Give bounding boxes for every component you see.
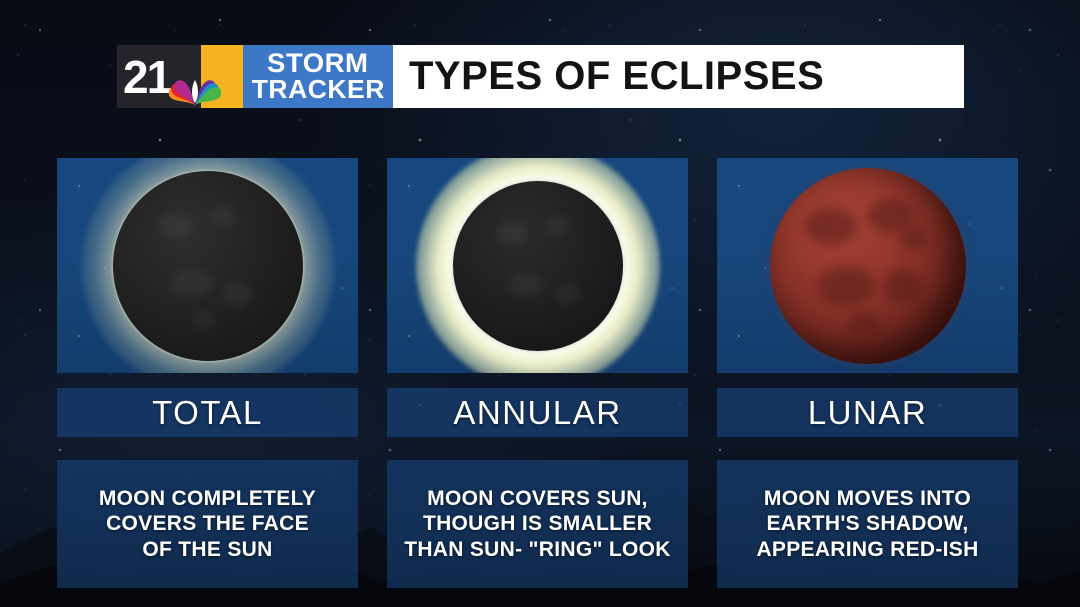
- moon-disc: [113, 171, 303, 361]
- eclipse-description: MOON COVERS SUN, THOUGH IS SMALLER THAN …: [398, 486, 677, 563]
- storm-tracker-banner: 21 STORM TRACKER: [117, 45, 964, 108]
- eclipse-label: ANNULAR: [453, 394, 621, 432]
- lunar-eclipse-blood-moon-icon: [717, 158, 1018, 373]
- description-box-annular: MOON COVERS SUN, THOUGH IS SMALLER THAN …: [387, 460, 688, 588]
- storm-tracker-block: STORM TRACKER: [243, 45, 393, 108]
- graphic-stage: 21 STORM TRACKER: [0, 0, 1080, 607]
- eclipse-column-lunar: LUNAR MOON MOVES INTO EARTH'S SHADOW, AP…: [717, 158, 1018, 588]
- total-solar-eclipse-icon: [57, 158, 358, 373]
- label-bar-annular: ANNULAR: [387, 388, 688, 437]
- eclipse-column-total: TOTAL MOON COMPLETELY COVERS THE FACE OF…: [57, 158, 358, 588]
- nbc-peacock-icon: [169, 72, 221, 106]
- moon-mare-texture: [770, 168, 966, 364]
- eclipse-column-annular: ANNULAR MOON COVERS SUN, THOUGH IS SMALL…: [387, 158, 688, 588]
- moon-texture: [453, 181, 623, 351]
- eclipse-description: MOON MOVES INTO EARTH'S SHADOW, APPEARIN…: [750, 486, 984, 563]
- title-bar: TYPES OF ECLIPSES: [393, 45, 964, 108]
- moon-texture: [113, 171, 303, 361]
- annular-solar-eclipse-icon: [387, 158, 688, 373]
- page-title: TYPES OF ECLIPSES: [409, 54, 824, 99]
- eclipse-columns: TOTAL MOON COMPLETELY COVERS THE FACE OF…: [57, 158, 1028, 588]
- description-box-lunar: MOON MOVES INTO EARTH'S SHADOW, APPEARIN…: [717, 460, 1018, 588]
- brand-line-tracker: TRACKER: [251, 77, 384, 102]
- eclipse-label: TOTAL: [152, 394, 263, 432]
- label-bar-total: TOTAL: [57, 388, 358, 437]
- label-bar-lunar: LUNAR: [717, 388, 1018, 437]
- station-logo: 21: [117, 45, 201, 108]
- eclipse-label: LUNAR: [808, 394, 927, 432]
- blood-moon-disc: [770, 168, 966, 364]
- eclipse-description: MOON COMPLETELY COVERS THE FACE OF THE S…: [93, 486, 322, 563]
- description-box-total: MOON COMPLETELY COVERS THE FACE OF THE S…: [57, 460, 358, 588]
- moon-disc: [453, 181, 623, 351]
- station-number: 21: [117, 54, 170, 100]
